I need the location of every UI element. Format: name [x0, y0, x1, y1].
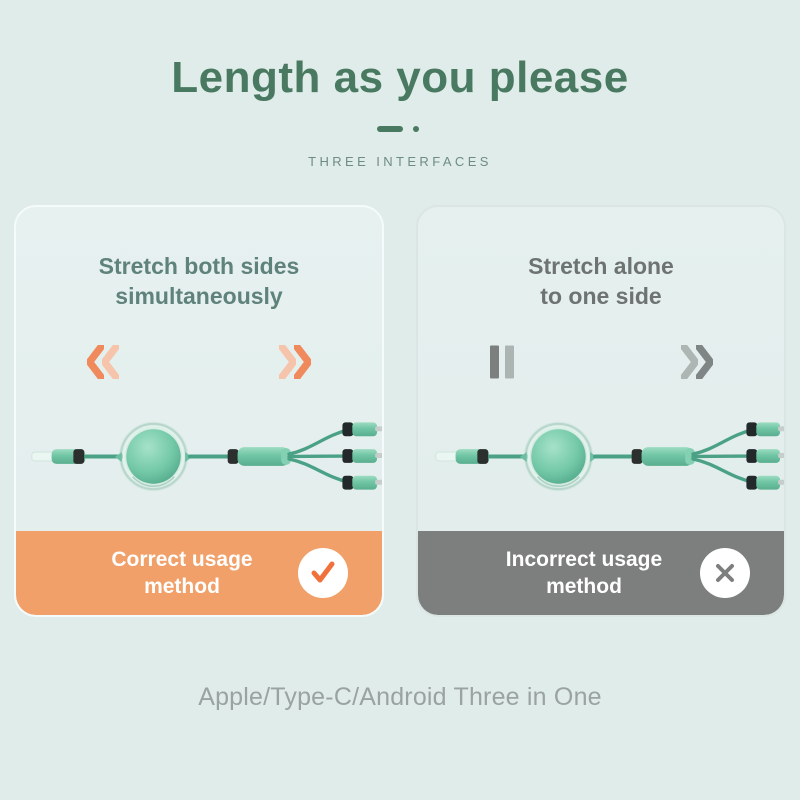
card-correct-body: Stretch both sides simultaneously — [16, 207, 382, 531]
page-subtitle: THREE INTERFACES — [0, 154, 800, 169]
card-correct-usage[interactable]: Stretch both sides simultaneously — [14, 205, 384, 617]
check-mark-glyph — [308, 558, 338, 588]
double-chevron-right-icon — [682, 345, 712, 379]
chevron-left-light — [102, 345, 119, 379]
card-correct-title: Stretch both sides simultaneously — [99, 252, 300, 311]
connector-tip-1 — [342, 423, 382, 437]
cross-mark-icon — [700, 548, 750, 598]
connector-tip-2 — [746, 449, 784, 463]
divider-dash — [377, 126, 403, 132]
retractable-cable-illustration — [418, 397, 784, 517]
product-image-incorrect — [418, 397, 784, 517]
page-title: Length as you please — [0, 54, 800, 102]
double-chevron-right-icon — [280, 345, 310, 379]
pause-bars-icon — [490, 346, 520, 379]
banner-incorrect-label: Incorrect usage method — [506, 546, 662, 601]
retractable-cable-illustration — [16, 397, 382, 517]
product-infographic: Length as you please THREE INTERFACES St… — [0, 0, 800, 800]
connector-tip-3 — [342, 476, 382, 490]
card-incorrect-title: Stretch alone to one side — [528, 252, 674, 311]
check-mark-icon — [298, 548, 348, 598]
chevron-right-dark — [696, 345, 713, 379]
connector-tip-1 — [746, 423, 784, 437]
header: Length as you please THREE INTERFACES — [0, 0, 800, 169]
pause-bar-left — [490, 346, 499, 379]
banner-incorrect-usage: Incorrect usage method — [418, 531, 784, 615]
card-incorrect-motion-indicators — [418, 339, 784, 385]
connector-tip-3 — [746, 476, 784, 490]
banner-correct-usage: Correct usage method — [16, 531, 382, 615]
double-chevron-left-icon — [88, 345, 118, 379]
banner-correct-label: Correct usage method — [111, 546, 252, 601]
dash-dot-divider-icon — [377, 124, 423, 134]
card-incorrect-usage[interactable]: Stretch alone to one side — [416, 205, 786, 617]
product-image-correct — [16, 397, 382, 517]
comparison-cards: Stretch both sides simultaneously — [14, 205, 786, 617]
connector-tip-2 — [342, 449, 382, 463]
chevron-right-dark — [294, 345, 311, 379]
pause-bar-right — [505, 346, 514, 379]
card-correct-motion-indicators — [16, 339, 382, 385]
card-incorrect-body: Stretch alone to one side — [418, 207, 784, 531]
footer-caption: Apple/Type-C/Android Three in One — [198, 683, 602, 712]
cross-mark-glyph — [710, 558, 740, 588]
divider-dot — [413, 126, 419, 132]
